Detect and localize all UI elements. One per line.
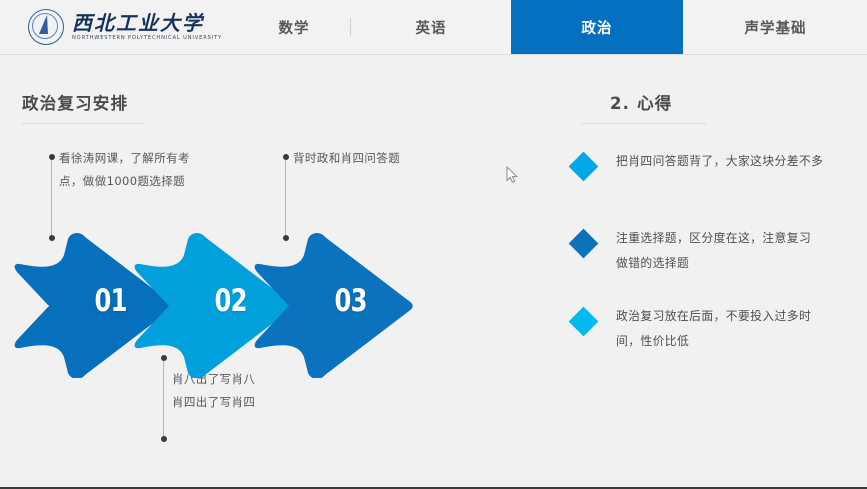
callout-connector-dot-top-1: [49, 154, 55, 160]
callout-connector-dot-bottom-3: [161, 436, 167, 442]
callout-connector-line-1: [51, 157, 52, 237]
tab-politics[interactable]: 政治: [511, 0, 683, 54]
left-panel-title: 政治复习安排: [22, 90, 128, 114]
insight-bullet-text-2: 注重选择题，区分度在这，注意复习 做错的选择题: [616, 226, 811, 276]
diamond-bullet-icon-2: [569, 229, 599, 259]
callout-connector-line-2: [285, 157, 286, 237]
process-arrow-number-2: 02: [215, 283, 247, 319]
insight-bullet-2: 注重选择题，区分度在这，注意复习 做错的选择题: [573, 230, 811, 276]
tab-acoustics-basics[interactable]: 声学基础: [683, 0, 867, 54]
left-panel-divider: [22, 123, 145, 124]
process-arrow-number-1: 01: [95, 283, 127, 319]
callout-connector-dot-top-2: [283, 154, 289, 160]
callout-text-1: 看徐涛网课，了解所有考 点，做做1000题选择题: [59, 147, 190, 193]
slide-page: 西北工业大学 NORTHWESTERN POLYTECHNICAL UNIVER…: [0, 0, 867, 489]
right-panel-title: 2. 心得: [610, 90, 673, 114]
process-arrow-number-3: 03: [335, 283, 367, 319]
diamond-bullet-icon-3: [569, 307, 599, 337]
university-seal-icon: [28, 9, 64, 45]
insight-bullet-text-1: 把肖四问答题背了，大家这块分差不多: [616, 149, 823, 174]
brand-logo[interactable]: 西北工业大学 NORTHWESTERN POLYTECHNICAL UNIVER…: [28, 6, 219, 48]
top-navigation-bar: 西北工业大学 NORTHWESTERN POLYTECHNICAL UNIVER…: [0, 0, 867, 55]
callout-text-2: 背时政和肖四问答题: [293, 147, 400, 170]
insight-bullet-1: 把肖四问答题背了，大家这块分差不多: [573, 153, 823, 177]
process-arrow-group: 01 02 03: [14, 233, 424, 378]
diamond-bullet-icon-1: [569, 152, 599, 182]
slide-content: 政治复习安排 看徐涛网课，了解所有考 点，做做1000题选择题 背时政和肖四问答…: [0, 55, 867, 487]
mouse-pointer-icon: [506, 166, 518, 184]
insight-bullet-3: 政治复习放在后面，不要投入过多时 间，性价比低: [573, 308, 811, 354]
insight-bullet-text-3: 政治复习放在后面，不要投入过多时 间，性价比低: [616, 304, 811, 354]
right-panel-divider: [581, 123, 706, 124]
tab-english[interactable]: 英语: [351, 0, 511, 54]
brand-name-en: NORTHWESTERN POLYTECHNICAL UNIVERSITY: [72, 34, 222, 42]
brand-name-cn: 西北工业大学: [72, 12, 219, 34]
tab-math[interactable]: 数学: [238, 0, 350, 54]
nav-tab-list: 数学 英语 政治 声学基础: [238, 0, 867, 54]
